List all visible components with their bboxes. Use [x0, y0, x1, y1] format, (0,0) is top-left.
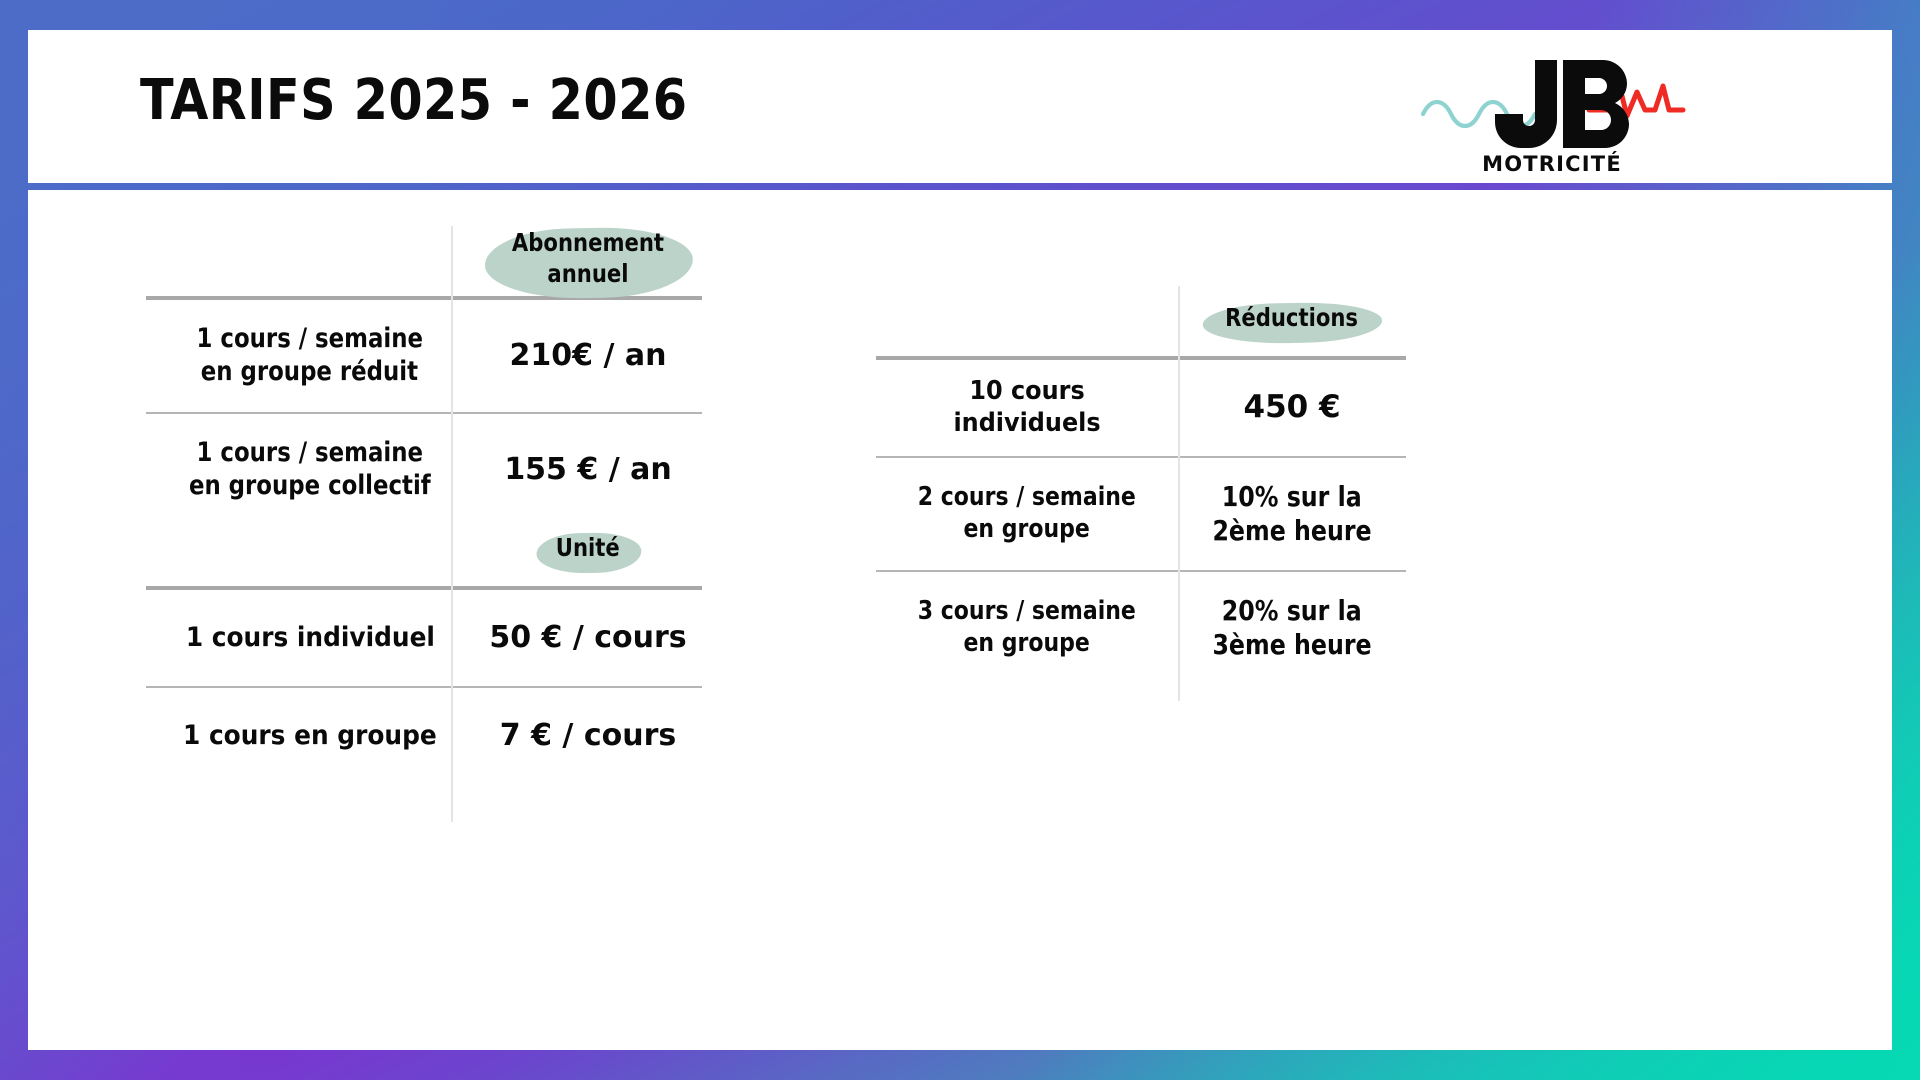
logo-wordmark: MOTRICITÉ	[1482, 152, 1622, 176]
row-label: 3 cours / semaine en groupe	[876, 572, 1178, 684]
header-cell-reductions: Réductions	[1178, 282, 1406, 356]
table-unit: Unité 1 cours individuel 50 € / cours 1 …	[146, 512, 702, 784]
table-header-row: Abonnement annuel	[146, 222, 702, 296]
column-divider	[451, 522, 453, 822]
jb-initials	[1495, 60, 1629, 148]
table-row: 2 cours / semaine en groupe 10% sur la 2…	[876, 458, 1406, 570]
row-value: 155 € / an	[474, 414, 702, 526]
row-value: 450 €	[1178, 360, 1406, 456]
table-row: 1 cours en groupe 7 € / cours	[146, 688, 702, 784]
header-cell-blank	[876, 282, 1178, 356]
table-row: 3 cours / semaine en groupe 20% sur la 3…	[876, 572, 1406, 684]
column-divider	[1178, 286, 1180, 701]
header-card: TARIFS 2025 - 2026 MOTRICITÉ	[28, 30, 1892, 183]
table-row: 1 cours / semaine en groupe réduit 210€ …	[146, 300, 702, 412]
page-title: TARIFS 2025 - 2026	[140, 68, 688, 133]
row-value: 210€ / an	[474, 300, 702, 412]
table-subscription: Abonnement annuel 1 cours / semaine en g…	[146, 222, 702, 526]
row-value: 50 € / cours	[474, 590, 702, 686]
table-header-row: Réductions	[876, 282, 1406, 356]
row-label: 1 cours / semaine en groupe réduit	[146, 300, 474, 412]
row-label: 1 cours en groupe	[146, 688, 474, 784]
table-row: 1 cours / semaine en groupe collectif 15…	[146, 414, 702, 526]
row-label: 2 cours / semaine en groupe	[876, 458, 1178, 570]
table-row: 1 cours individuel 50 € / cours	[146, 590, 702, 686]
header-cell-blank	[146, 222, 474, 296]
row-value: 7 € / cours	[474, 688, 702, 784]
row-label: 1 cours individuel	[146, 590, 474, 686]
header-cell-blank	[146, 512, 474, 586]
row-label: 1 cours / semaine en groupe collectif	[146, 414, 474, 526]
header-cell-unit: Unité	[474, 512, 702, 586]
header-cell-subscription: Abonnement annuel	[474, 222, 702, 296]
table-row: 10 cours individuels 450 €	[876, 360, 1406, 456]
jb-motricite-logo: MOTRICITÉ	[1417, 52, 1687, 170]
row-label: 10 cours individuels	[876, 360, 1178, 456]
row-value: 20% sur la 3ème heure	[1178, 572, 1406, 684]
table-header-row: Unité	[146, 512, 702, 586]
table-reductions: Réductions 10 cours individuels 450 € 2 …	[876, 282, 1406, 684]
row-value: 10% sur la 2ème heure	[1178, 458, 1406, 570]
